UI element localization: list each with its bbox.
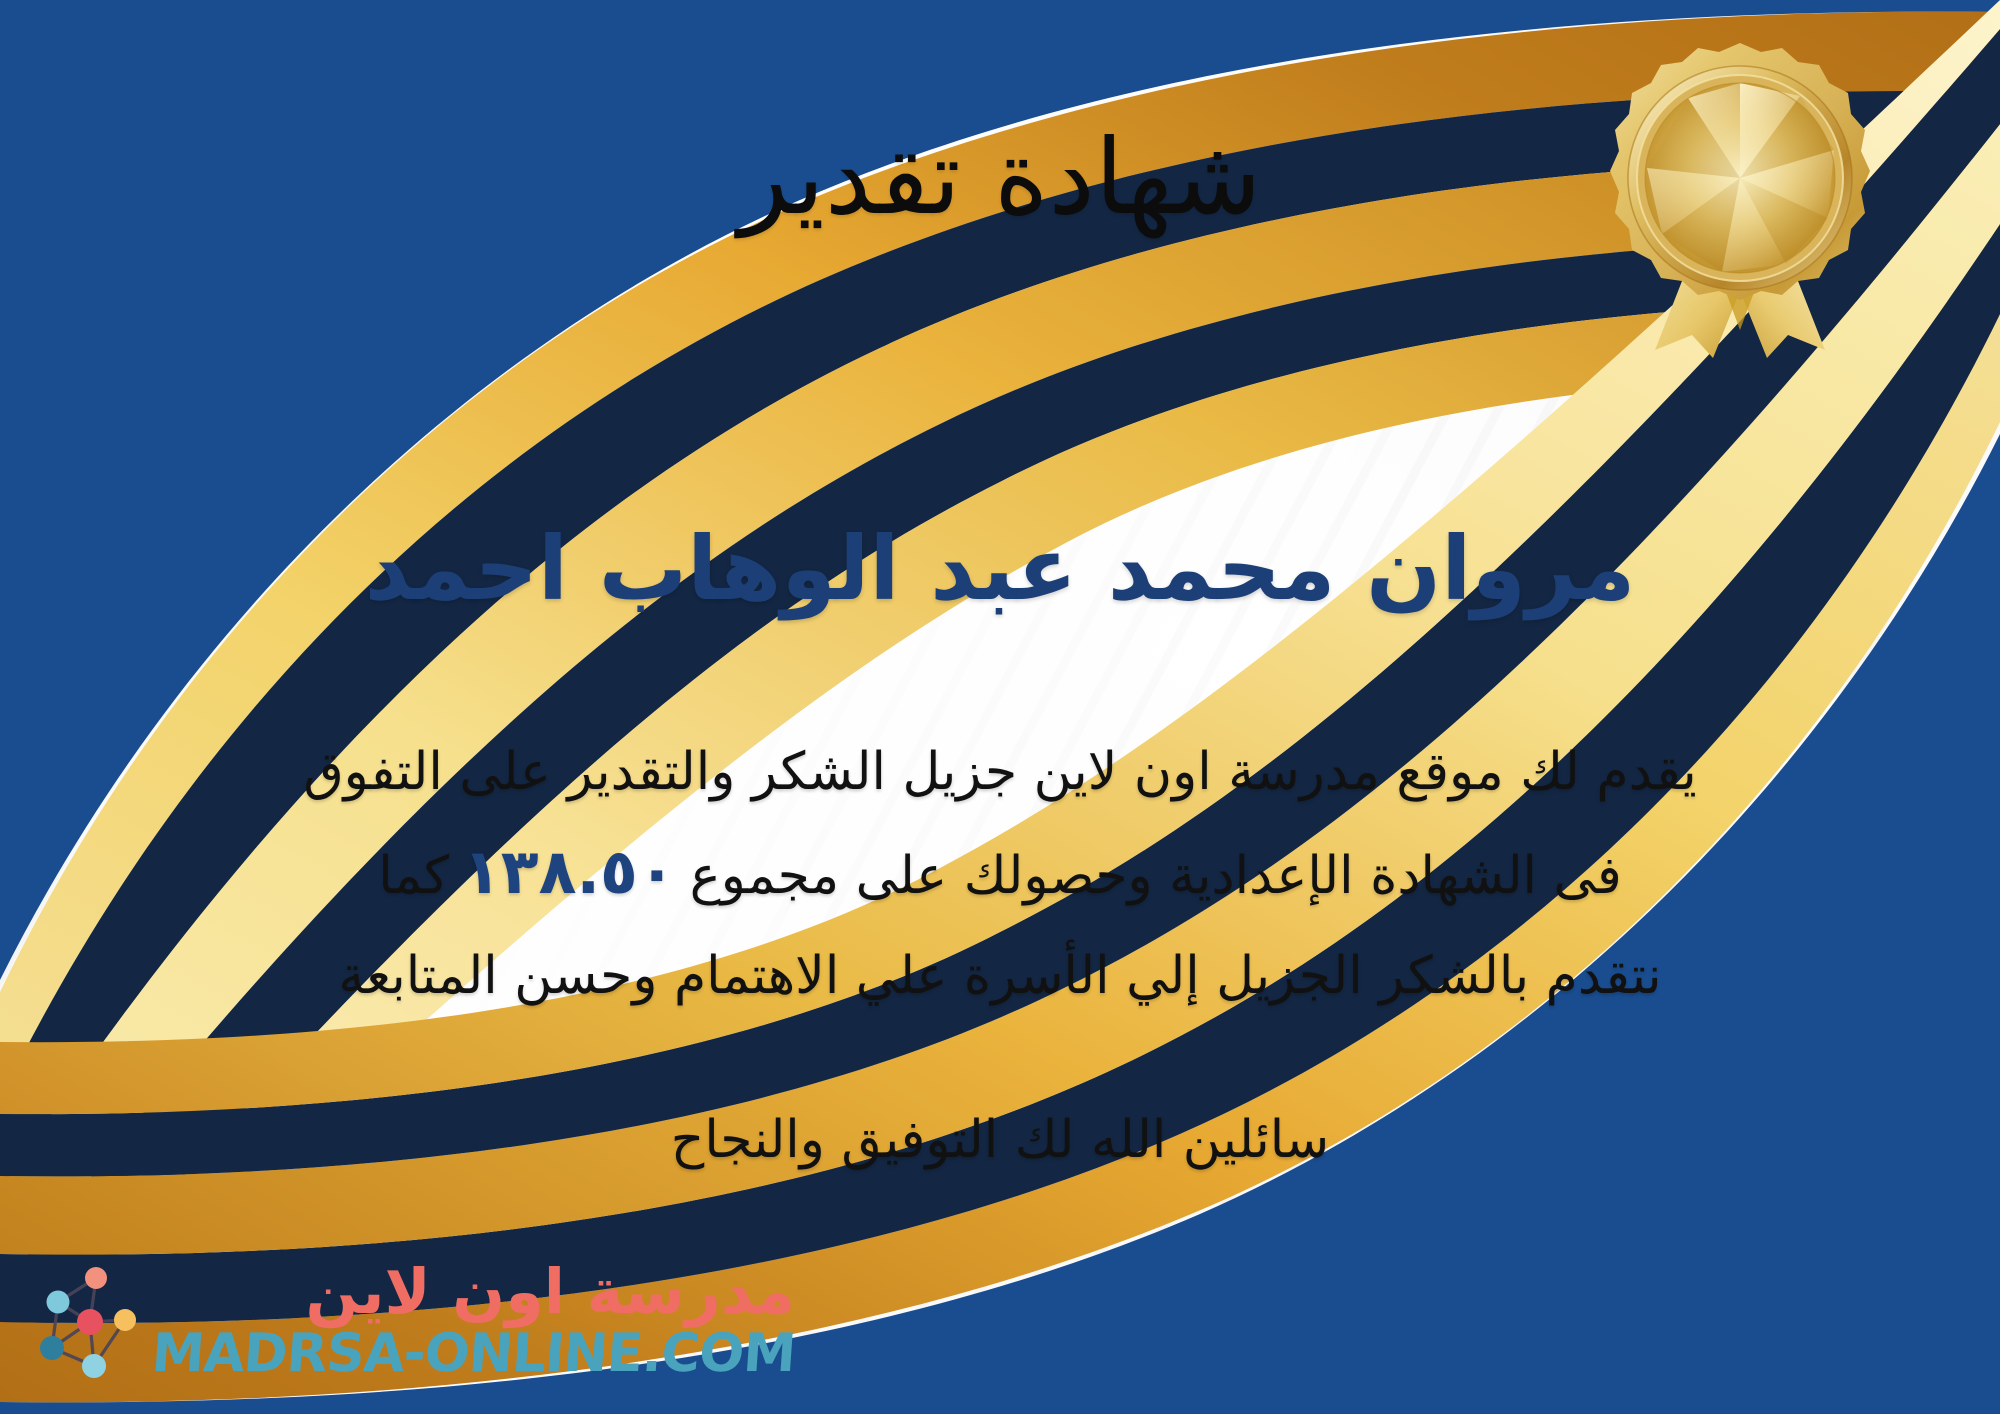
- body-line-2-suffix: كما: [378, 846, 449, 906]
- body-line-3: نتقدم بالشكر الجزيل إلي الأسرة علي الاهت…: [60, 926, 1940, 1026]
- logo-node-yellow: [114, 1309, 136, 1331]
- brand-arabic-name: مدرسة اون لاين: [305, 1261, 795, 1323]
- brand-logo[interactable]: مدرسة اون لاين MADRSA-ONLINE.COM: [28, 1261, 795, 1380]
- certificate-body: يقدم لك موقع مدرسة اون لاين جزيل الشكر و…: [60, 722, 1940, 1026]
- logo-node-coral: [85, 1267, 107, 1289]
- body-line-2-prefix: فى الشهادة الإعدادية وحصولك على مجموع: [690, 846, 1622, 906]
- certificate-page: شهادة تقدير مروان محمد عبد الوهاب احمد ي…: [0, 0, 2000, 1414]
- medal-core: [1645, 83, 1835, 273]
- body-line-1: يقدم لك موقع مدرسة اون لاين جزيل الشكر و…: [60, 722, 1940, 822]
- closing-wish-line: سائلين الله لك التوفيق والنجاح: [0, 1090, 2000, 1190]
- brand-website-url[interactable]: MADRSA-ONLINE.COM: [150, 1327, 797, 1380]
- gold-award-rosette-medal: [1600, 38, 1880, 358]
- logo-node-cyan: [82, 1354, 106, 1378]
- recipient-name: مروان محمد عبد الوهاب احمد: [0, 516, 2000, 622]
- total-score-value: ١٣٨.٥٠: [449, 835, 690, 908]
- body-line-2: فى الشهادة الإعدادية وحصولك على مجموع١٣٨…: [60, 822, 1940, 926]
- logo-node-red: [77, 1309, 103, 1335]
- network-nodes-logo-icon: [28, 1262, 140, 1380]
- logo-node-darkteal: [40, 1336, 64, 1360]
- logo-node-lightblue: [47, 1290, 70, 1313]
- brand-text-group: مدرسة اون لاين MADRSA-ONLINE.COM: [152, 1261, 795, 1380]
